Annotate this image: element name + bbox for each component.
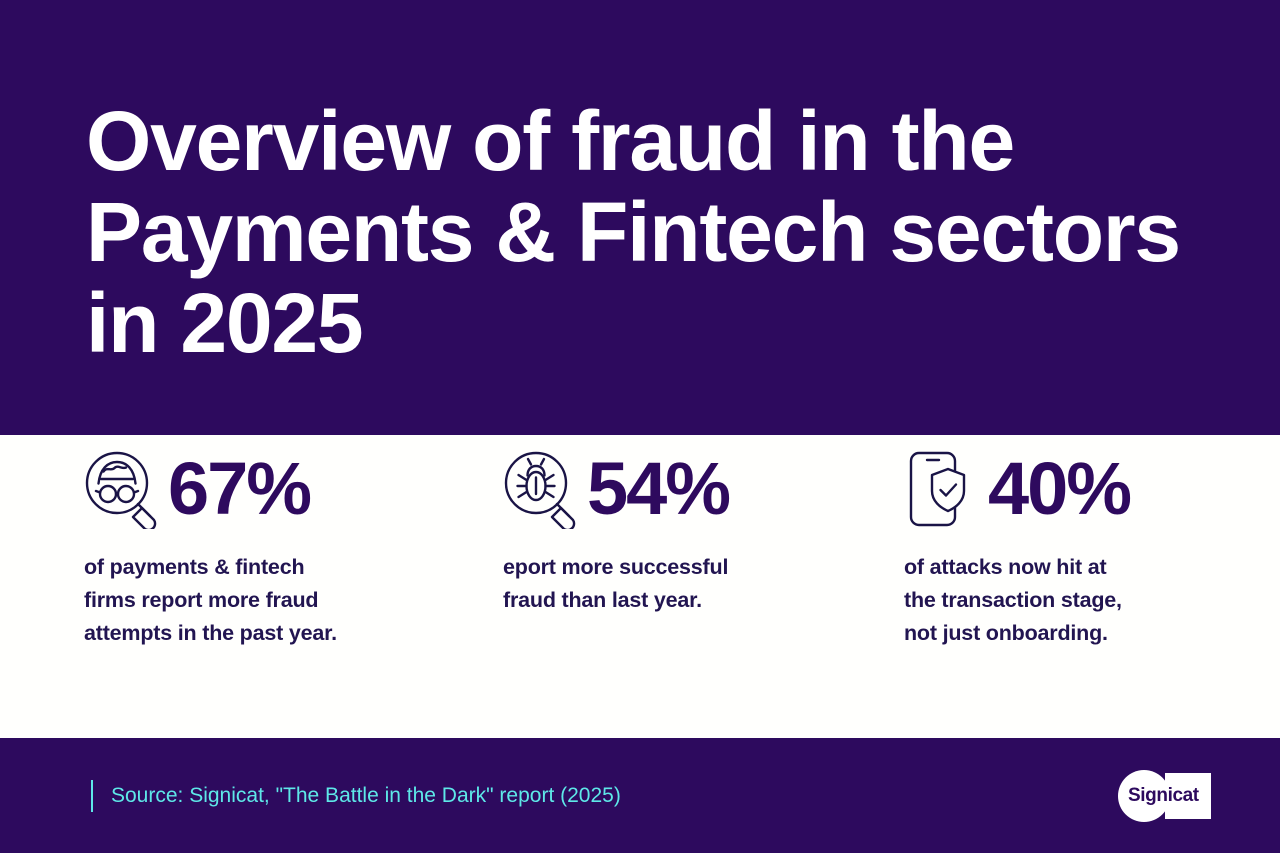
source-attribution: Source: Signicat, "The Battle in the Dar… — [91, 780, 621, 812]
stat-block-3: 40% of attacks now hit at the transactio… — [904, 435, 1214, 650]
title-line-3: in 2025 — [86, 278, 1186, 369]
title-line-1: Overview of fraud in the — [86, 96, 1186, 187]
stat-block-2: 54% eport more successful fraud than las… — [503, 435, 873, 617]
stat-headline-1: 67% — [84, 435, 454, 535]
stats-band: 67% of payments & fintech firms report m… — [0, 435, 1280, 738]
stat-caption-1: of payments & fintech firms report more … — [84, 551, 454, 650]
stat-caption-1-line-3: attempts in the past year. — [84, 617, 454, 650]
stat-caption-3-line-1: of attacks now hit at — [904, 551, 1214, 584]
stat-caption-3-line-2: the transaction stage, — [904, 584, 1214, 617]
page-title: Overview of fraud in the Payments & Fint… — [86, 0, 1186, 369]
stat-caption-1-line-1: of payments & fintech — [84, 551, 454, 584]
footer-band: Source: Signicat, "The Battle in the Dar… — [0, 738, 1280, 853]
stat-headline-2: 54% — [503, 435, 873, 535]
stat-caption-1-line-2: firms report more fraud — [84, 584, 454, 617]
stat-caption-3: of attacks now hit at the transaction st… — [904, 551, 1214, 650]
header-band: Overview of fraud in the Payments & Fint… — [0, 0, 1280, 435]
title-line-2: Payments & Fintech sectors — [86, 187, 1186, 278]
stat-value-3: 40% — [988, 452, 1130, 526]
infographic-root: Overview of fraud in the Payments & Fint… — [0, 0, 1280, 853]
logo-wordmark: Signicat — [1128, 786, 1199, 806]
stat-value-2: 54% — [587, 452, 729, 526]
source-text: Source: Signicat, "The Battle in the Dar… — [111, 784, 621, 808]
phone-shield-check-icon — [904, 445, 982, 533]
source-accent-rule — [91, 780, 93, 812]
stat-value-1: 67% — [168, 452, 310, 526]
stat-caption-2-line-2: fraud than last year. — [503, 584, 873, 617]
bug-magnifier-icon — [503, 445, 581, 533]
stat-block-1: 67% of payments & fintech firms report m… — [84, 435, 454, 650]
stat-headline-3: 40% — [904, 435, 1214, 535]
stat-caption-3-line-3: not just onboarding. — [904, 617, 1214, 650]
signicat-logo: Signicat — [1118, 769, 1218, 823]
stat-caption-2: eport more successful fraud than last ye… — [503, 551, 873, 617]
stat-caption-2-line-1: eport more successful — [503, 551, 873, 584]
detective-magnifier-icon — [84, 445, 162, 533]
